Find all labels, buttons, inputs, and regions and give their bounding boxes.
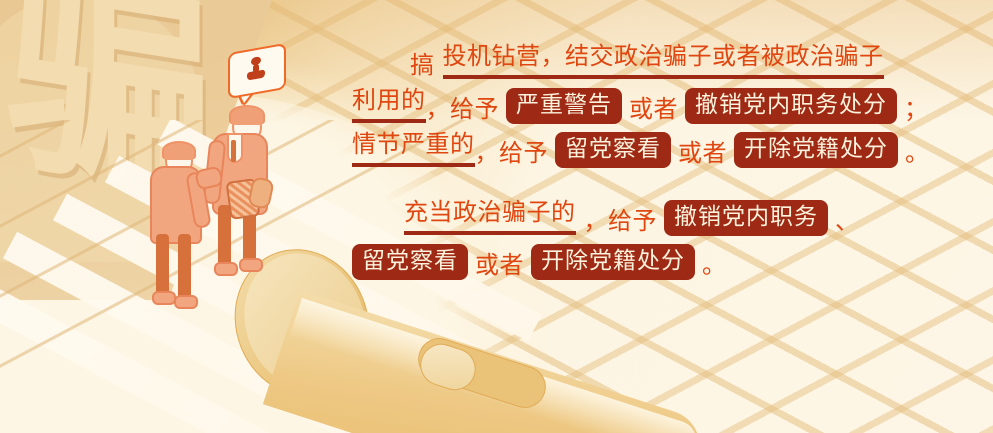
text-token: ，给予 <box>426 89 500 124</box>
penalty-badge: 留党察看 <box>352 244 468 280</box>
text-token: 。 <box>905 133 930 168</box>
text-token-underlined: 利用的 <box>352 89 426 122</box>
text-token: ，给予 <box>576 201 658 236</box>
paragraph-2: 充当政治骗子的 ，给予 撤销党内职务 、 留党察看 或者 开除党籍处分 。 <box>352 196 952 284</box>
regulation-text-block: 搞 投机钻营，结交政治骗子或者被政治骗子 利用的 ，给予 严重警告 或者 撤销党… <box>352 40 952 284</box>
text-token: 、 <box>835 201 860 236</box>
text-line-p2l2: 留党察看 或者 开除党籍处分 。 <box>352 240 952 284</box>
penalty-badge: 留党察看 <box>555 132 671 168</box>
text-line-p1l1: 搞 投机钻营，结交政治骗子或者被政治骗子 <box>352 40 952 84</box>
penalty-badge: 严重警告 <box>506 88 622 124</box>
text-line-p1l2: 利用的 ，给予 严重警告 或者 撤销党内职务处分 ； <box>352 84 952 128</box>
text-token: ，给予 <box>475 133 549 168</box>
text-token-underlined: 充当政治骗子的 <box>404 201 576 234</box>
paragraph-1: 搞 投机钻营，结交政治骗子或者被政治骗子 利用的 ，给予 严重警告 或者 撤销党… <box>352 40 952 172</box>
text-token: 或者 <box>475 245 524 280</box>
text-token-underlined: 情节严重的 <box>352 133 475 166</box>
penalty-badge: 开除党籍处分 <box>531 244 695 280</box>
text-line-p1l3: 情节严重的 ，给予 留党察看 或者 开除党籍处分 。 <box>352 128 952 172</box>
text-token: 搞 <box>410 45 443 80</box>
text-line-p2l1: 充当政治骗子的 ，给予 撤销党内职务 、 <box>352 196 952 240</box>
stamp-icon <box>247 55 265 80</box>
text-token: 或者 <box>678 133 727 168</box>
text-token-underlined: 投机钻营，结交政治骗子或者被政治骗子 <box>443 45 884 78</box>
text-token: 。 <box>702 245 727 280</box>
penalty-badge: 撤销党内职务处分 <box>685 88 897 124</box>
poster-canvas: 骗 <box>0 0 993 433</box>
text-token: 或者 <box>629 89 678 124</box>
text-token: ； <box>904 89 929 124</box>
penalty-badge: 开除党籍处分 <box>734 132 898 168</box>
penalty-badge: 撤销党内职务 <box>664 200 828 236</box>
